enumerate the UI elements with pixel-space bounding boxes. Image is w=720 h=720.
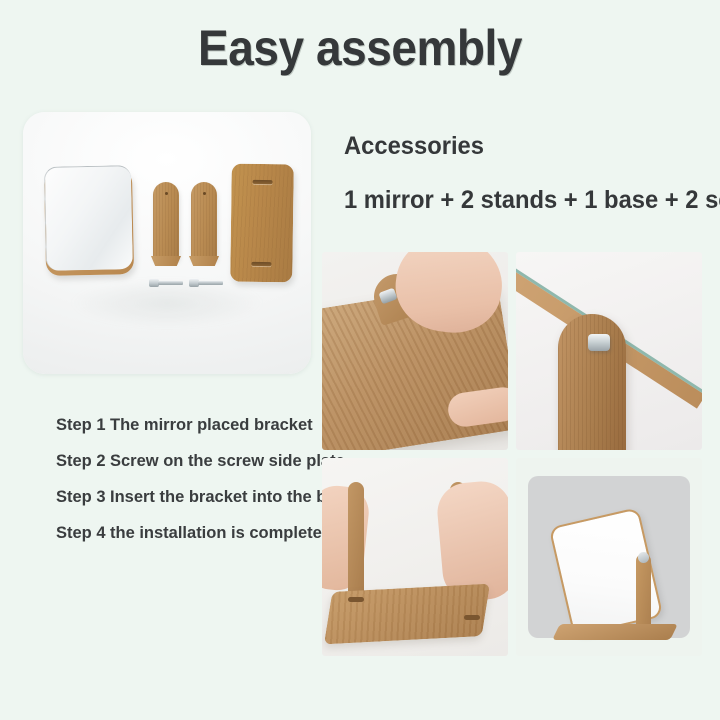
step-label: Step 3 xyxy=(56,488,110,507)
stand-screw-hole xyxy=(165,192,168,195)
base-slot xyxy=(464,615,480,620)
stand-screw-hole xyxy=(203,192,206,195)
step-item: Step 1 The mirror placed bracket xyxy=(56,416,326,452)
product-backdrop xyxy=(528,476,690,638)
accessories-list: 1 mirror + 2 stands + 1 base + 2 screws xyxy=(344,186,720,215)
step-description: Insert the bracket into the base xyxy=(110,488,354,507)
base-plate xyxy=(552,624,678,640)
step4-photo xyxy=(516,458,702,656)
step1-photo xyxy=(322,252,508,450)
stand-foot xyxy=(189,256,219,266)
base-plate xyxy=(324,584,490,645)
step-label: Step 2 xyxy=(56,452,110,471)
step2-photo xyxy=(516,252,702,450)
stand-foot xyxy=(151,256,181,266)
part-screw-two xyxy=(189,280,223,286)
hinge-bolt-icon xyxy=(638,552,649,563)
hinge-post xyxy=(636,554,651,634)
part-stand-right xyxy=(191,182,217,260)
step3-photo xyxy=(322,458,508,656)
step-item: Step 4 the installation is complete xyxy=(56,524,326,560)
base-slot-top xyxy=(253,180,273,184)
part-mirror xyxy=(44,169,134,276)
bolt-icon xyxy=(588,334,610,351)
step-item: Step 2 Screw on the screw side plate xyxy=(56,452,326,488)
step-description: The mirror placed bracket xyxy=(110,416,326,435)
page-title: Easy assembly xyxy=(29,20,691,76)
part-screw-one xyxy=(149,280,183,286)
step-label: Step 4 xyxy=(56,524,110,543)
mirror-glass xyxy=(44,165,133,271)
base-slot-bottom xyxy=(251,262,271,266)
steps-list: Step 1 The mirror placed bracket Step 2 … xyxy=(56,416,326,560)
parts-layout-card xyxy=(23,112,311,374)
step-item: Step 3 Insert the bracket into the base xyxy=(56,488,326,524)
assembly-photo-grid xyxy=(322,252,702,656)
accessories-heading: Accessories xyxy=(344,132,484,161)
part-stand-left xyxy=(153,182,179,260)
bracket-leg xyxy=(348,482,364,604)
base-slot xyxy=(348,597,364,602)
step-description: the installation is complete xyxy=(110,524,326,543)
step-label: Step 1 xyxy=(56,416,110,435)
step-description: Screw on the screw side plate xyxy=(110,452,345,471)
part-base-plate xyxy=(230,164,294,283)
screw-shaft xyxy=(158,281,183,285)
screw-shaft xyxy=(198,281,223,285)
